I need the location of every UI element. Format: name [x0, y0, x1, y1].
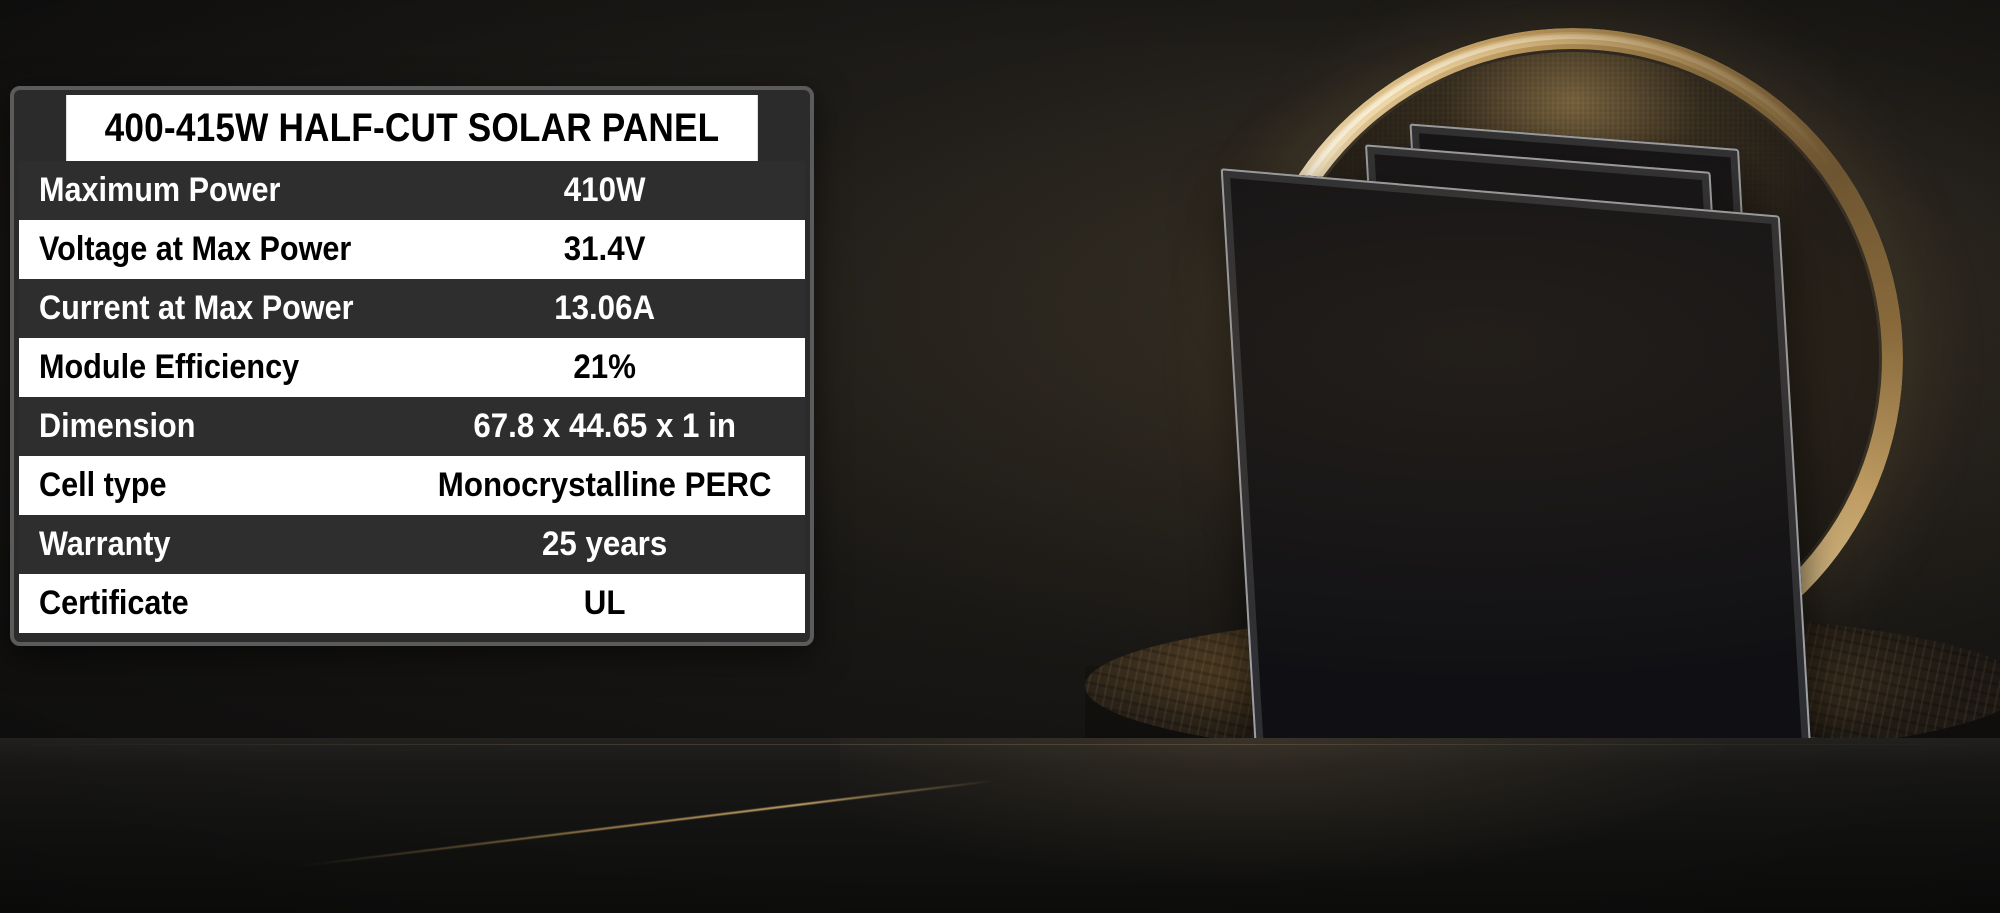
- spec-label: Cell type: [39, 466, 381, 505]
- table-row: Module Efficiency21%: [19, 338, 805, 397]
- table-row: Current at Max Power13.06A: [19, 279, 805, 338]
- spec-value: 25 years: [434, 525, 789, 564]
- table-row: CertificateUL: [19, 574, 805, 633]
- spec-label: Voltage at Max Power: [39, 230, 381, 269]
- spec-value: Monocrystalline PERC: [434, 466, 789, 505]
- floor-sheen: [840, 738, 2000, 913]
- spec-label: Warranty: [39, 525, 381, 564]
- spec-value: 13.06A: [434, 289, 789, 328]
- panel-frame: [1221, 168, 1816, 819]
- spec-label: Module Efficiency: [39, 348, 381, 387]
- table-row: Voltage at Max Power31.4V: [19, 220, 805, 279]
- solar-panel-front: [1221, 168, 1816, 819]
- spec-value: 67.8 x 44.65 x 1 in: [434, 407, 789, 446]
- table-row: Warranty25 years: [19, 515, 805, 574]
- specification-card: 400-415W HALF-CUT SOLAR PANEL Maximum Po…: [10, 86, 814, 646]
- spec-label: Dimension: [39, 407, 381, 446]
- solar-panel-stack: [1230, 138, 1950, 778]
- table-row: Dimension67.8 x 44.65 x 1 in: [19, 397, 805, 456]
- table-row: Cell typeMonocrystalline PERC: [19, 456, 805, 515]
- spec-label: Current at Max Power: [39, 289, 381, 328]
- table-row: Maximum Power410W: [19, 161, 805, 220]
- stone-floor: [0, 738, 2000, 913]
- page-title: 400-415W HALF-CUT SOLAR PANEL: [66, 95, 758, 161]
- specification-table: Maximum Power410WVoltage at Max Power31.…: [19, 161, 805, 633]
- spec-value: UL: [434, 584, 789, 623]
- spec-value: 31.4V: [434, 230, 789, 269]
- spec-label: Certificate: [39, 584, 381, 623]
- spec-value: 410W: [434, 171, 789, 210]
- spec-value: 21%: [434, 348, 789, 387]
- spec-label: Maximum Power: [39, 171, 381, 210]
